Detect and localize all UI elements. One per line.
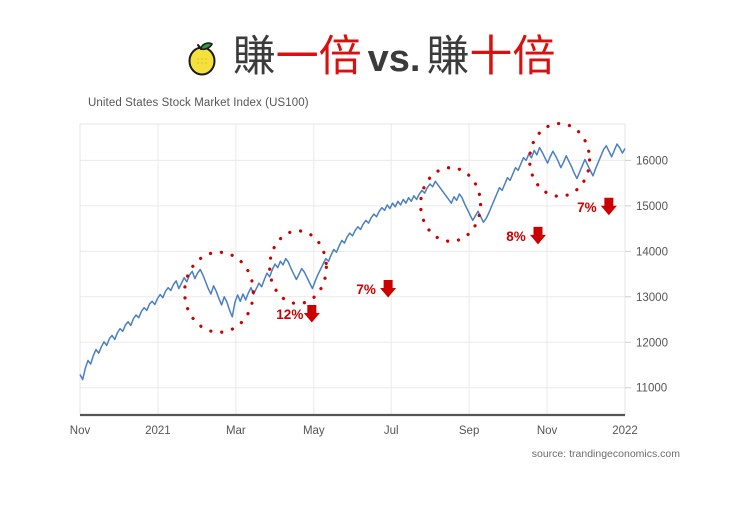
chart-plot-border bbox=[80, 124, 625, 415]
y-tick-label: 15000 bbox=[636, 201, 668, 213]
x-tick-label: 2022 bbox=[612, 425, 638, 437]
annotation-circle bbox=[421, 168, 481, 242]
annotation-label: 7% bbox=[356, 282, 376, 297]
chart-gridlines bbox=[80, 124, 625, 415]
annotation-label: 12% bbox=[276, 307, 303, 322]
x-tick-label: Nov bbox=[537, 425, 558, 437]
price-line-series bbox=[80, 144, 625, 380]
annotation-down-arrow-icon bbox=[530, 227, 546, 245]
stock-index-line-chart: 110001200013000140001500016000 Nov2021Ma… bbox=[0, 0, 740, 505]
y-tick-label: 11000 bbox=[636, 383, 667, 395]
x-axis-tick-labels: Nov2021MarMayJulSepNov2022 bbox=[70, 425, 638, 437]
price-line bbox=[80, 144, 625, 380]
x-tick-label: Sep bbox=[459, 425, 479, 437]
annotation-down-arrow-icon bbox=[601, 198, 617, 216]
chart-container: 110001200013000140001500016000 Nov2021Ma… bbox=[0, 0, 740, 505]
annotation-down-arrow-icon bbox=[304, 305, 320, 323]
y-axis-tick-labels: 110001200013000140001500016000 bbox=[625, 155, 668, 394]
y-tick-label: 13000 bbox=[636, 292, 668, 304]
x-tick-label: May bbox=[303, 425, 325, 437]
annotation-down-arrow-icon bbox=[380, 280, 396, 298]
source-note: source: trandingeconomics.com bbox=[532, 448, 680, 460]
x-tick-label: Jul bbox=[384, 425, 399, 437]
y-tick-label: 16000 bbox=[636, 155, 668, 167]
x-tick-label: 2021 bbox=[145, 425, 171, 437]
annotation-label: 8% bbox=[506, 229, 526, 244]
y-tick-label: 12000 bbox=[636, 337, 668, 349]
x-tick-label: Mar bbox=[226, 425, 246, 437]
annotation-label: 7% bbox=[577, 200, 597, 215]
annotation-layer: 12%7%8%7% bbox=[185, 124, 617, 333]
x-tick-label: Nov bbox=[70, 425, 91, 437]
y-tick-label: 14000 bbox=[636, 246, 668, 258]
annotation-circle bbox=[185, 252, 254, 332]
